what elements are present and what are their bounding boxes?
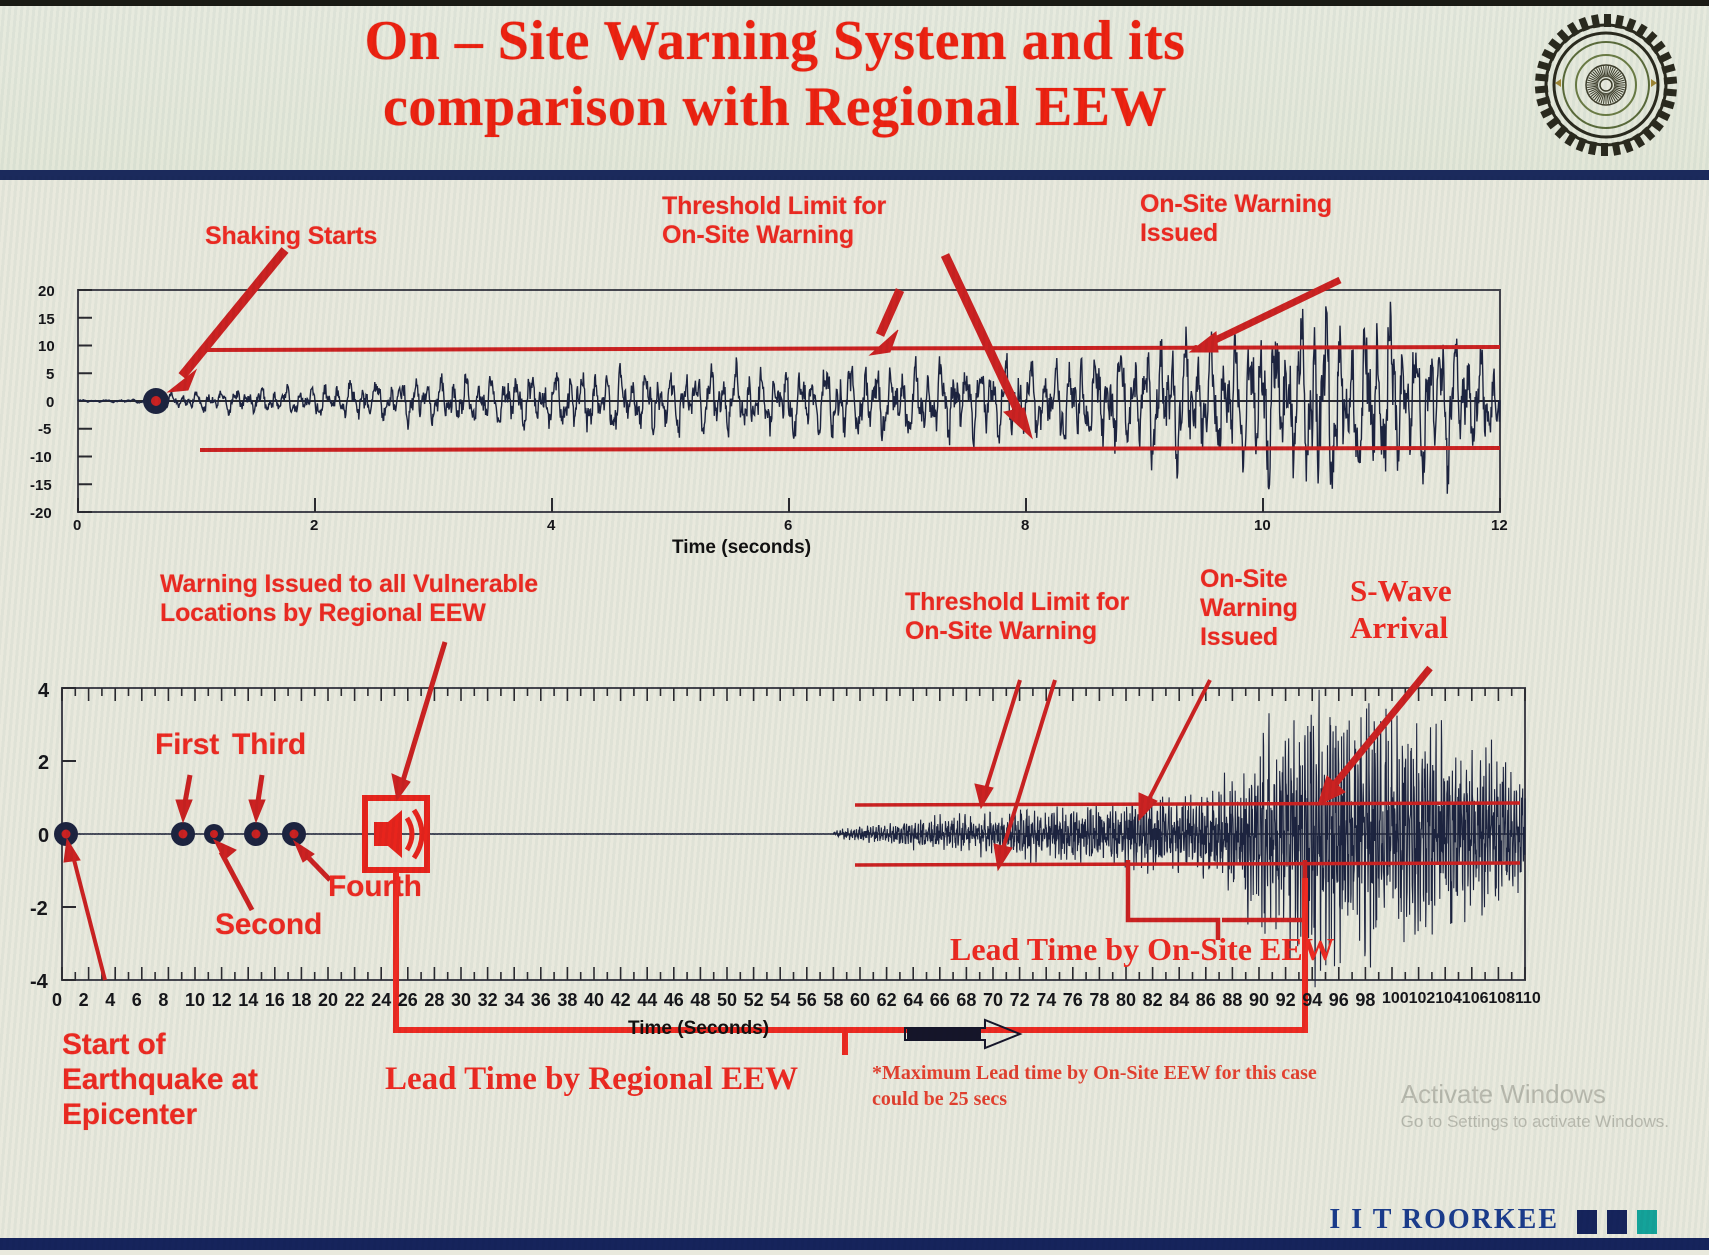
bottom-xtick-49: 98 [1355,990,1375,1011]
footnote-line2: could be 25 secs [872,1086,1432,1112]
bottom-xtick-13: 26 [398,990,418,1011]
bottom-xtick-51: 102 [1409,990,1436,1008]
bottom-xtick-21: 42 [611,990,631,1011]
top-xtick-3: 6 [784,517,792,534]
annotation-s-wave-arrival: S-Wave Arrival [1350,572,1452,646]
bottom-xtick-35: 70 [983,990,1003,1011]
top-xtick-2: 4 [547,517,555,534]
bottom-xtick-43: 86 [1196,990,1216,1011]
annotation-lead-time-regional: Lead Time by Regional EEW [385,1060,798,1100]
bottom-xtick-37: 74 [1036,990,1056,1011]
footer-square-1 [1577,1210,1597,1234]
windows-activation-watermark: Activate Windows Go to Settings to activ… [1401,1078,1669,1132]
bottom-xtick-34: 68 [956,990,976,1011]
annotation-regional-eew-warning-line2: Locations by Regional EEW [160,599,538,628]
top-chart-xlabel: Time (seconds) [672,537,811,559]
annotation-s-wave-arrival-line2: Arrival [1350,609,1452,646]
bottom-xtick-17: 34 [504,990,524,1011]
annotation-second: Second [215,908,322,943]
bottom-xtick-46: 92 [1276,990,1296,1011]
top-xtick-5: 10 [1254,517,1271,534]
top-ytick-6: -10 [30,449,52,466]
footnote-max-lead-time: *Maximum Lead time by On-Site EEW for th… [872,1060,1432,1112]
time-direction-arrow [905,1020,1020,1048]
annotation-threshold-limit-bottom: Threshold Limit for On-Site Warning [905,588,1129,646]
top-xtick-4: 8 [1021,517,1029,534]
shaking-start-marker [143,388,169,414]
annotation-start-of-earthquake-line1: Start of [62,1028,258,1063]
bottom-xtick-8: 16 [265,990,285,1011]
bottom-xtick-38: 76 [1063,990,1083,1011]
bottom-xtick-3: 6 [132,990,142,1011]
bottom-xtick-47: 94 [1302,990,1322,1011]
bottom-xtick-30: 60 [850,990,870,1011]
annotation-start-of-earthquake-line3: Epicenter [62,1098,258,1133]
bottom-xtick-18: 36 [531,990,551,1011]
annotation-onsite-warning-issued-bottom-line3: Issued [1200,623,1298,652]
bottom-xtick-54: 108 [1488,990,1515,1008]
bottom-xtick-32: 64 [903,990,923,1011]
top-ytick-2: 10 [38,338,55,355]
bottom-xtick-55: 110 [1515,990,1541,1008]
bottom-xtick-40: 80 [1116,990,1136,1011]
annotation-threshold-limit-bottom-line2: On-Site Warning [905,617,1129,646]
bottom-xtick-29: 58 [823,990,843,1011]
bottom-xtick-20: 40 [584,990,604,1011]
bottom-xtick-0: 0 [52,990,62,1011]
bottom-xtick-33: 66 [930,990,950,1011]
bottom-xtick-25: 50 [717,990,737,1011]
bottom-xtick-11: 22 [345,990,365,1011]
annotation-first: First [155,728,219,763]
annotation-threshold-limit-bottom-line1: Threshold Limit for [905,588,1129,617]
bottom-xtick-6: 12 [212,990,232,1011]
bottom-xtick-9: 18 [291,990,311,1011]
page-title: On – Site Warning System and its compari… [150,8,1400,140]
annotation-start-of-earthquake-line2: Earthquake at [62,1063,258,1098]
bottom-xtick-19: 38 [557,990,577,1011]
footer-square-3 [1637,1210,1657,1234]
top-ytick-8: -20 [30,505,52,522]
footer-bar [0,1238,1709,1250]
annotation-threshold-limit-top-line1: Threshold Limit for [662,192,886,221]
bottom-xtick-12: 24 [371,990,391,1011]
bottom-xtick-31: 62 [877,990,897,1011]
page-title-line2: comparison with Regional EEW [150,74,1400,140]
top-ytick-4: 0 [46,394,54,411]
watermark-line1: Activate Windows [1401,1078,1669,1111]
bottom-xtick-44: 88 [1222,990,1242,1011]
bottom-xtick-15: 30 [451,990,471,1011]
top-ytick-1: 15 [38,311,55,328]
top-ytick-5: -5 [38,421,51,438]
iit-roorkee-gear-logo [1531,10,1681,160]
bottom-xtick-36: 72 [1010,990,1030,1011]
bottom-xtick-14: 28 [424,990,444,1011]
annotation-regional-eew-warning: Warning Issued to all Vulnerable Locatio… [160,570,538,628]
top-xtick-6: 12 [1491,517,1508,534]
institute-footer-label: I I T ROORKEE [1329,1204,1559,1236]
bottom-xtick-16: 32 [478,990,498,1011]
annotation-onsite-warning-issued-top-line2: Issued [1140,219,1332,248]
bottom-ytick-0: 4 [38,680,49,703]
annotation-onsite-warning-issued-top-line1: On-Site Warning [1140,190,1332,219]
bottom-chart: 4 2 0 -2 -4 0246810121416182022242628303… [0,560,1709,1250]
bottom-ytick-1: 2 [38,752,49,775]
annotation-onsite-warning-issued-bottom: On-Site Warning Issued [1200,565,1298,652]
annotation-s-wave-arrival-line1: S-Wave [1350,572,1452,609]
bottom-xtick-5: 10 [185,990,205,1011]
bottom-xtick-2: 4 [105,990,115,1011]
bottom-xtick-27: 54 [770,990,790,1011]
bottom-xtick-labels: 0246810121416182022242628303234363840424… [0,990,1709,1020]
bottom-xtick-39: 78 [1089,990,1109,1011]
top-ytick-7: -15 [30,477,52,494]
bottom-xtick-22: 44 [637,990,657,1011]
annotation-threshold-limit-top-line2: On-Site Warning [662,221,886,250]
watermark-line2: Go to Settings to activate Windows. [1401,1111,1669,1132]
annotation-onsite-warning-issued-bottom-line1: On-Site [1200,565,1298,594]
bottom-xtick-7: 14 [238,990,258,1011]
annotation-third: Third [232,728,306,763]
bottom-xtick-42: 84 [1169,990,1189,1011]
annotation-start-of-earthquake: Start of Earthquake at Epicenter [62,1028,258,1132]
bottom-xtick-1: 2 [79,990,89,1011]
top-xtick-1: 2 [310,517,318,534]
top-ytick-0: 20 [38,283,55,300]
top-chart: 20 15 10 5 0 -5 -10 -15 -20 0 2 4 6 8 10… [0,180,1709,570]
bottom-xtick-26: 52 [744,990,764,1011]
bottom-xtick-48: 96 [1329,990,1349,1011]
bottom-xtick-24: 48 [690,990,710,1011]
bottom-xtick-45: 90 [1249,990,1269,1011]
header-divider [0,170,1709,180]
bottom-chart-xlabel: Time (Seconds) [628,1018,769,1040]
annotation-shaking-starts: Shaking Starts [205,222,377,251]
footer-square-2 [1607,1210,1627,1234]
bottom-ytick-2: 0 [38,825,49,848]
top-ytick-3: 5 [46,366,54,383]
footnote-line1: *Maximum Lead time by On-Site EEW for th… [872,1060,1432,1086]
annotation-threshold-limit-top: Threshold Limit for On-Site Warning [662,192,886,250]
annotation-lead-time-onsite: Lead Time by On-Site EEW [950,930,1335,968]
bottom-xtick-53: 106 [1462,990,1489,1008]
annotation-onsite-warning-issued-bottom-line2: Warning [1200,594,1298,623]
annotation-regional-eew-warning-line1: Warning Issued to all Vulnerable [160,570,538,599]
bottom-xtick-28: 56 [797,990,817,1011]
bottom-xtick-52: 104 [1435,990,1462,1008]
lead-time-regional-bracket [396,872,1305,1080]
bottom-xtick-50: 100 [1382,990,1409,1008]
annotation-onsite-warning-issued-top: On-Site Warning Issued [1140,190,1332,248]
top-xtick-0: 0 [73,517,81,534]
annotation-fourth: Fourth [328,870,422,905]
page-title-line1: On – Site Warning System and its [150,8,1400,74]
bottom-xtick-41: 82 [1143,990,1163,1011]
bottom-xtick-4: 8 [158,990,168,1011]
bottom-ytick-3: -2 [30,898,48,921]
slide-header: On – Site Warning System and its compari… [0,0,1709,176]
bottom-xtick-23: 46 [664,990,684,1011]
bottom-xtick-10: 20 [318,990,338,1011]
